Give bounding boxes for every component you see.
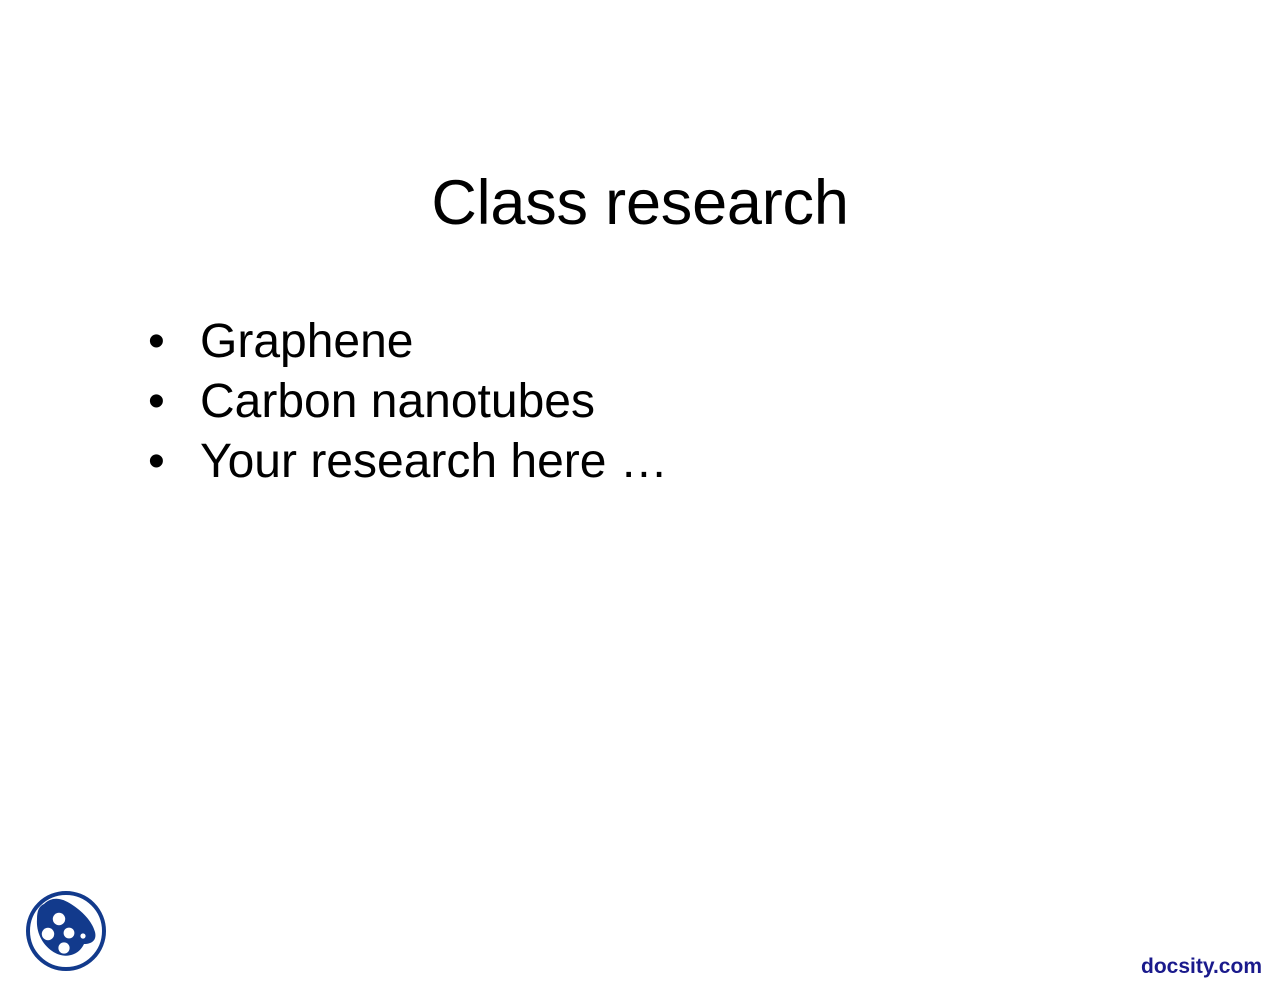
bullet-point-icon: • xyxy=(148,372,200,432)
presentation-slide: Class research • Graphene • Carbon nanot… xyxy=(0,0,1280,989)
list-item: • Carbon nanotubes xyxy=(148,372,1148,432)
page-title: Class research xyxy=(0,168,1280,239)
bullet-point-icon: • xyxy=(148,312,200,372)
list-item: • Your research here … xyxy=(148,432,1148,492)
bullet-point-icon: • xyxy=(148,432,200,492)
bullet-list: • Graphene • Carbon nanotubes • Your res… xyxy=(148,312,1148,492)
list-item: • Graphene xyxy=(148,312,1148,372)
list-item-label: Graphene xyxy=(200,312,414,372)
list-item-label: Your research here … xyxy=(200,432,668,492)
watermark-docsity: docsity.com xyxy=(1141,955,1262,979)
docsity-cookie-logo-icon xyxy=(22,886,108,976)
list-item-label: Carbon nanotubes xyxy=(200,372,595,432)
